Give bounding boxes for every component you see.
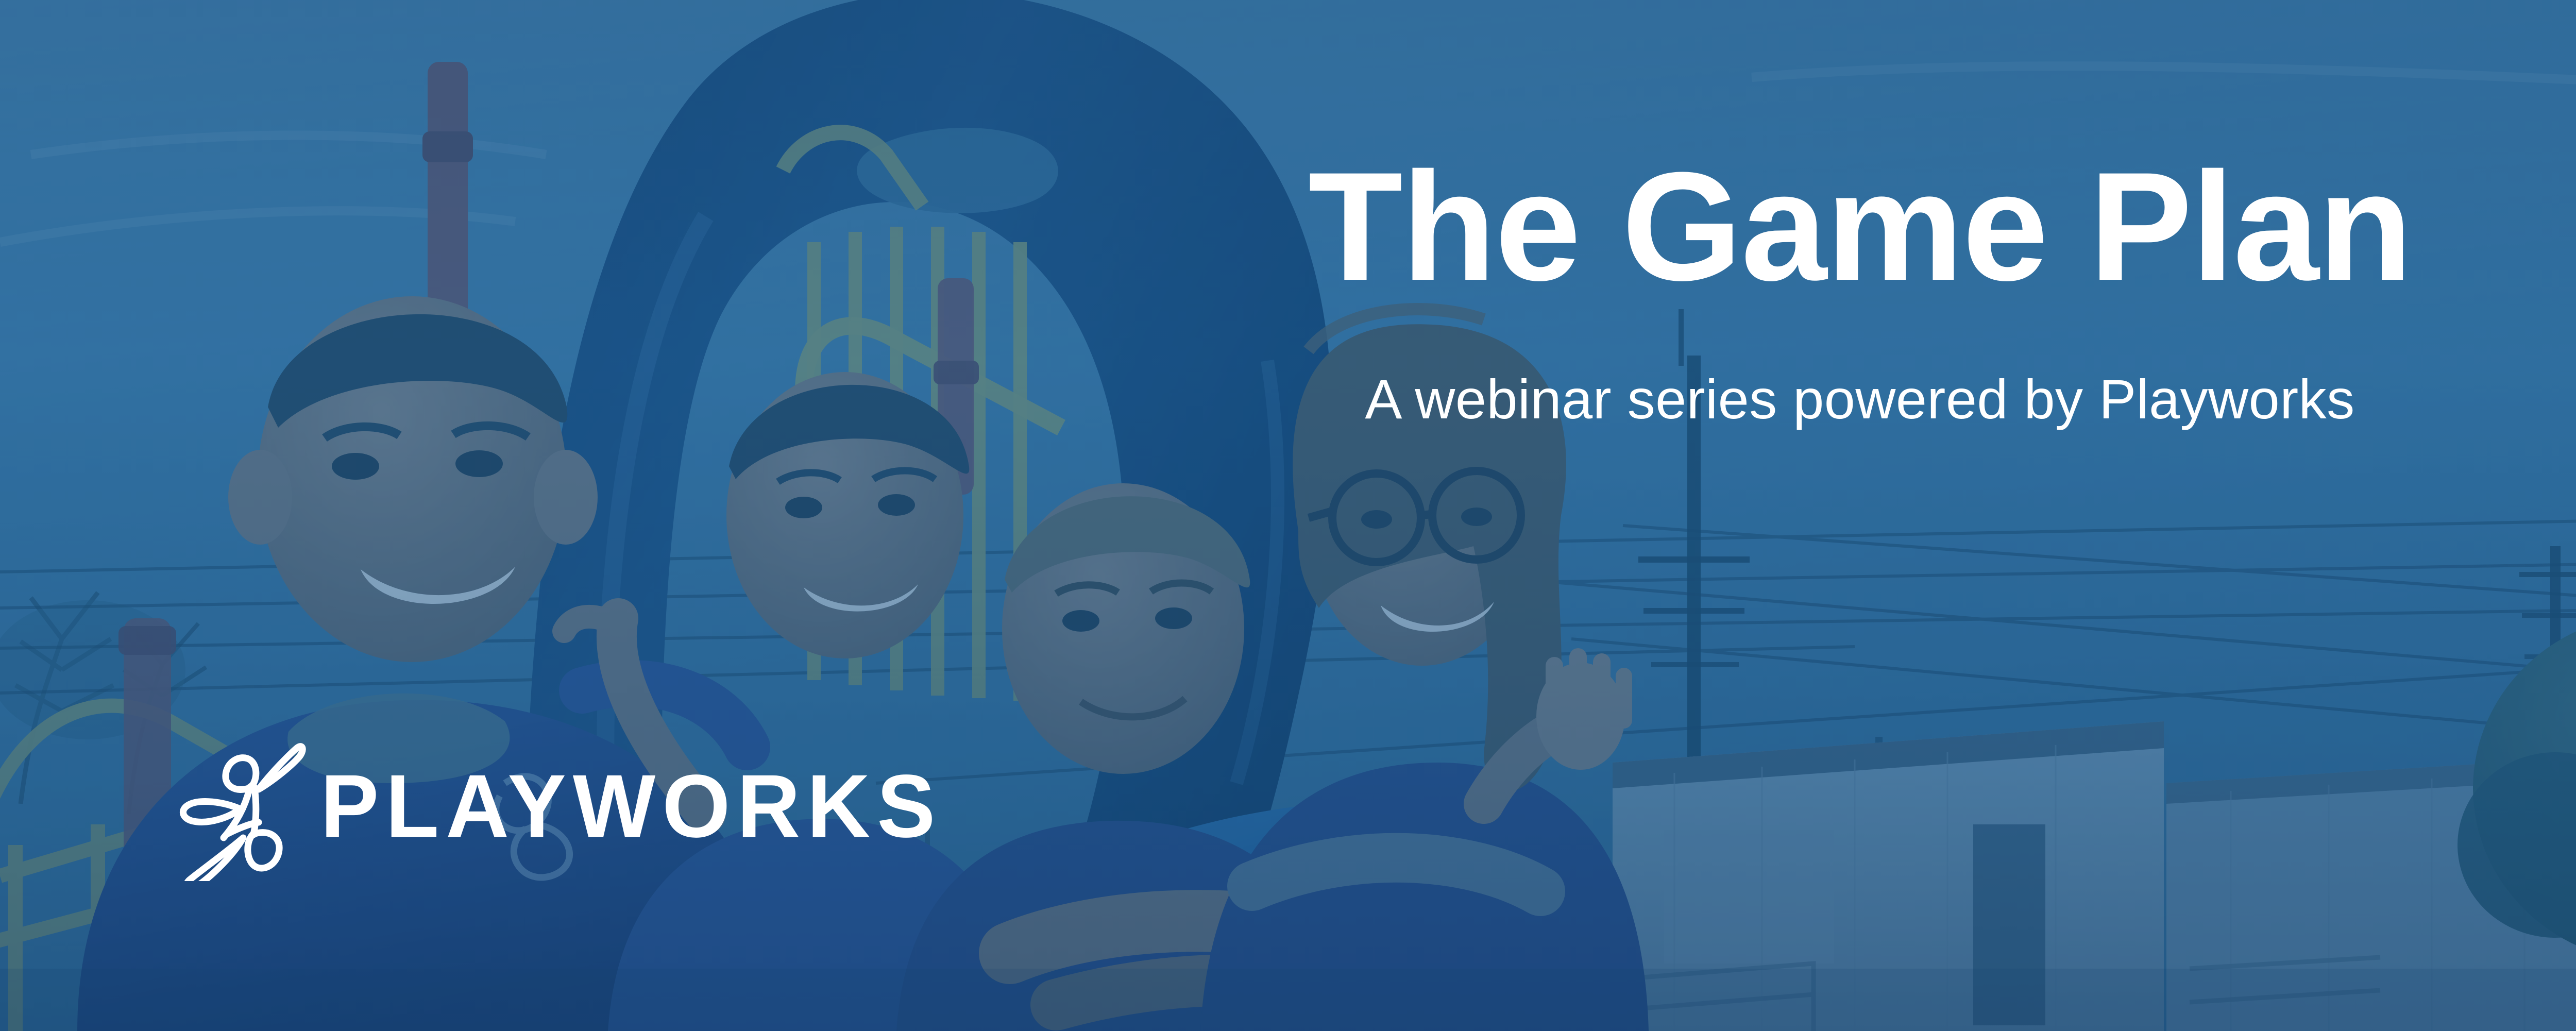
headline-block: The Game Plan A webinar series powered b… [1082, 144, 2576, 430]
ear-right [534, 450, 598, 545]
playworks-wordmark: PLAYWORKS [320, 762, 942, 851]
page-title: The Game Plan [1082, 144, 2576, 308]
game-plan-webinar-banner: The Game Plan A webinar series powered b… [0, 0, 2576, 1031]
playworks-logo-lockup[interactable]: PLAYWORKS [170, 732, 942, 881]
ear-left [228, 450, 292, 545]
playworks-loop-figure-icon [170, 732, 308, 881]
page-subtitle: A webinar series powered by Playworks [1082, 308, 2576, 430]
